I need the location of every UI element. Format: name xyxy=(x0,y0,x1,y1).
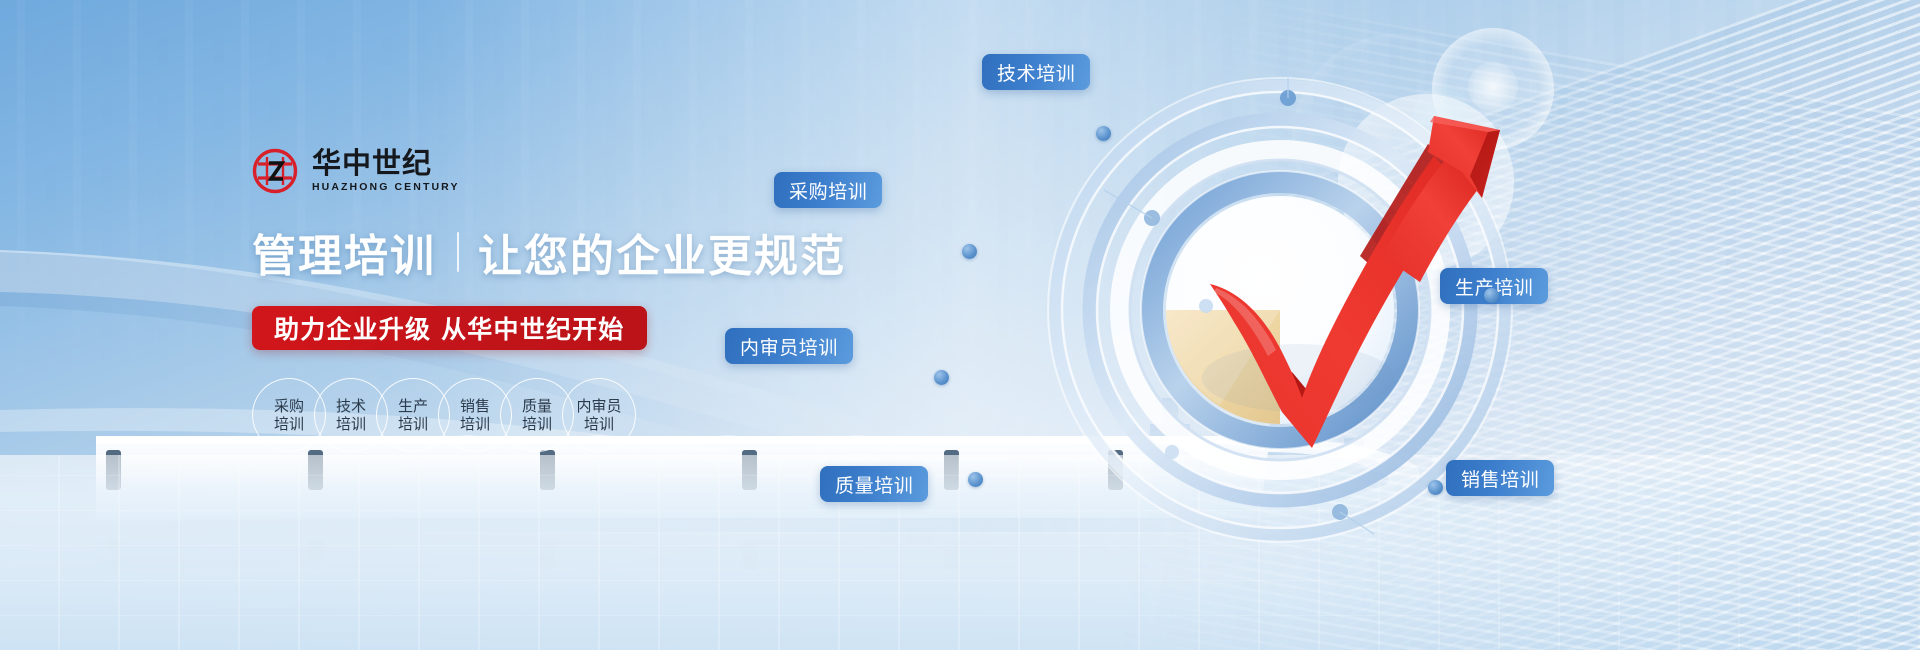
circle-tag-line1: 销售 xyxy=(460,397,490,415)
circle-tag-line2: 培训 xyxy=(398,415,428,433)
logo-text-cn: 华中世纪 xyxy=(312,149,460,179)
banner-content: 华中世纪 HUAZHONG CENTURY 管理培训 让您的企业更规范 助力企业… xyxy=(252,148,892,452)
red-circle-monogram-icon xyxy=(252,148,298,194)
circle-tag-line1: 生产 xyxy=(398,397,428,415)
circle-tag-line1: 质量 xyxy=(522,397,552,415)
circle-tag-line1: 内审员 xyxy=(576,397,621,415)
label-tech-training[interactable]: 技术培训 xyxy=(982,54,1090,90)
promo-banner: 技术培训 采购培训 生产培训 内审员培训 销售培训 质量培训 xyxy=(0,0,1920,650)
connector-dot-quality xyxy=(968,472,983,487)
circle-tag-internal-auditor[interactable]: 内审员 培训 xyxy=(562,378,636,452)
headline-divider xyxy=(457,232,459,272)
target-graphic: 技术培训 采购培训 生产培训 内审员培训 销售培训 质量培训 xyxy=(1030,60,1590,580)
page-title: 管理培训 让您的企业更规范 xyxy=(252,220,892,284)
concentric-target-rings-icon xyxy=(1030,60,1590,580)
circle-tag-line2: 培训 xyxy=(336,415,366,433)
circle-tag-line1: 技术 xyxy=(336,397,366,415)
circle-tag-line1: 采购 xyxy=(274,397,304,415)
connector-dot-procurement xyxy=(962,244,977,259)
logo-text-en: HUAZHONG CENTURY xyxy=(312,181,460,193)
circle-tag-line2: 培训 xyxy=(584,415,614,433)
connector-dot-production xyxy=(1484,288,1499,303)
connector-dot-auditor xyxy=(934,370,949,385)
circle-tag-line2: 培训 xyxy=(274,415,304,433)
label-sales-training[interactable]: 销售培训 xyxy=(1446,460,1554,496)
label-quality-training[interactable]: 质量培训 xyxy=(820,466,928,502)
headline-left: 管理培训 xyxy=(252,220,436,284)
brand-logo[interactable]: 华中世纪 HUAZHONG CENTURY xyxy=(252,148,892,194)
headline-right: 让您的企业更规范 xyxy=(478,220,846,284)
slogan-badge[interactable]: 助力企业升级 从华中世纪开始 xyxy=(252,306,647,350)
circle-tag-row: 采购 培训 技术 培训 生产 培训 销售 培训 质量 培训 内审员 培训 xyxy=(252,378,892,452)
connector-dot-sales xyxy=(1428,480,1443,495)
circle-tag-line2: 培训 xyxy=(522,415,552,433)
circle-tag-line2: 培训 xyxy=(460,415,490,433)
connector-dot-tech xyxy=(1096,126,1111,141)
